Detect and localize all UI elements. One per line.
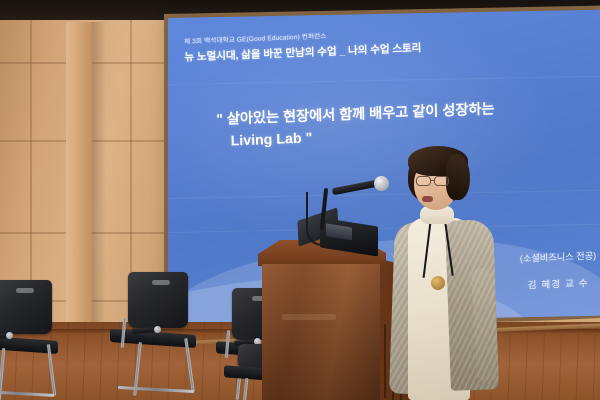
speaker xyxy=(386,148,506,400)
chair-microphone-head xyxy=(154,326,161,333)
chair-handle xyxy=(152,280,170,285)
confidence-monitor-screen xyxy=(326,223,352,240)
lanyard-badge xyxy=(431,276,445,290)
eyeglasses-left-lens xyxy=(416,176,431,186)
speaker-mouth xyxy=(422,196,433,202)
conference-presentation-photo: 제 3회 백석대학교 GE(Good Education) 컨퍼런스 뉴 노멀시… xyxy=(0,0,600,400)
chair-foot-rail xyxy=(0,390,54,397)
wall-corner-shadow xyxy=(92,22,106,352)
chair-1 xyxy=(0,280,70,400)
chair-handle xyxy=(16,288,34,293)
chair-leg xyxy=(243,378,249,400)
speaker-hair-side xyxy=(446,154,470,200)
chair-2 xyxy=(118,272,210,398)
podium-shading xyxy=(262,264,380,400)
eyeglasses-bridge xyxy=(431,180,434,181)
eyeglasses-right-lens xyxy=(434,176,449,186)
chair-microphone-head xyxy=(6,332,13,339)
podium xyxy=(258,228,386,400)
podium-emblem xyxy=(282,314,336,320)
chair-foot-rail xyxy=(118,386,194,393)
